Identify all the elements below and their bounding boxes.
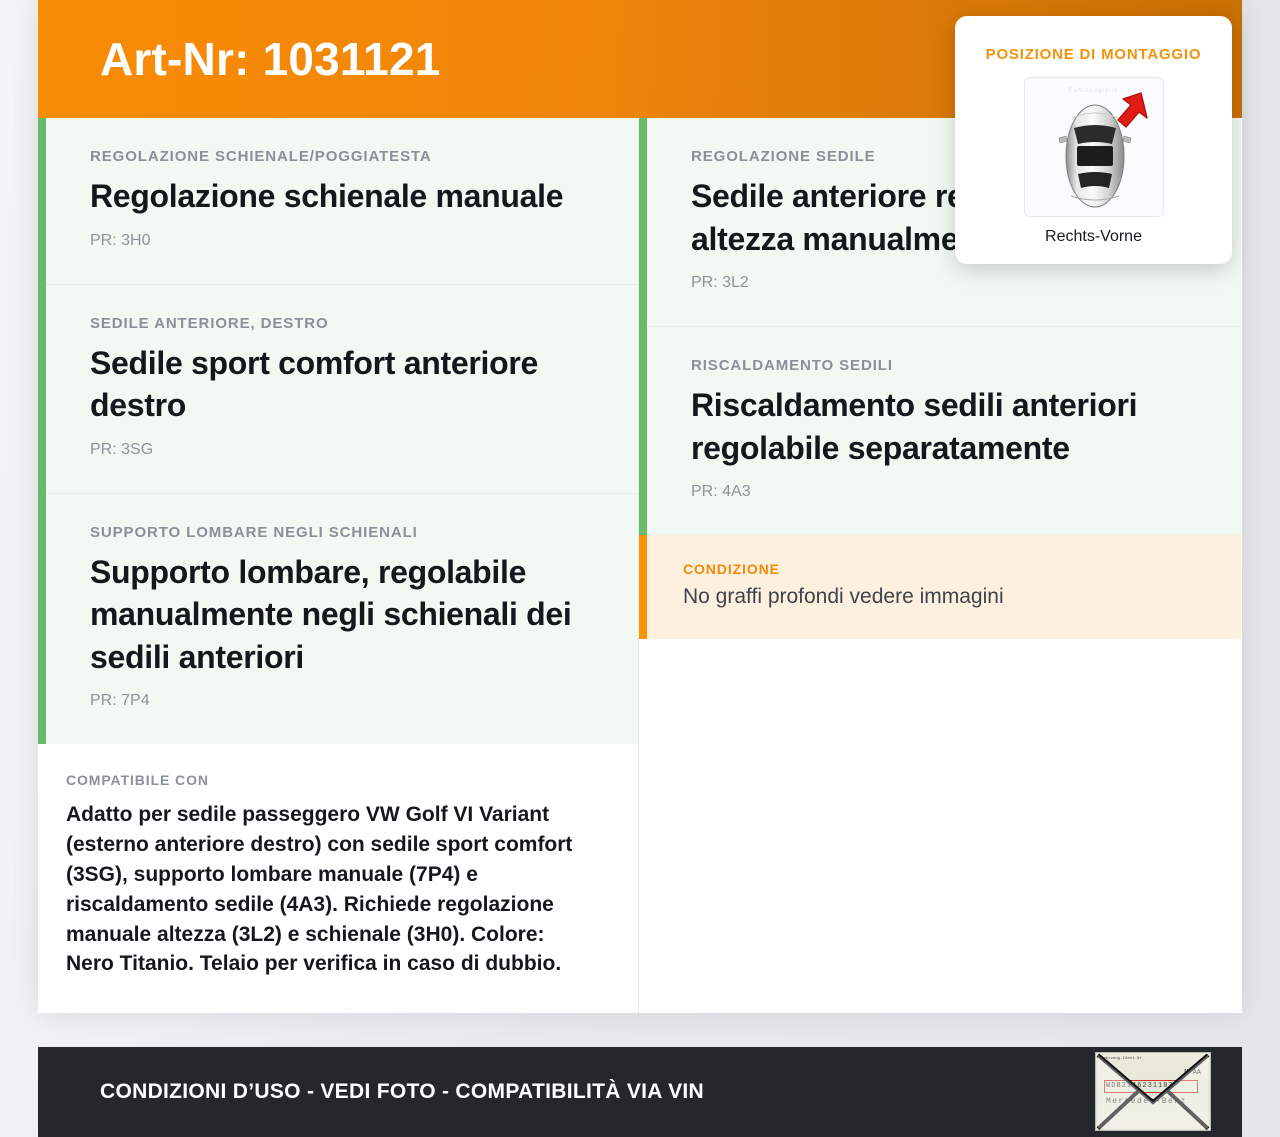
condition-label: CONDIZIONE [683, 561, 1197, 577]
spec-pr-code: PR: 3SG [90, 441, 594, 459]
spec-pr-code: PR: 7P4 [90, 692, 594, 710]
compatibility-text: Adatto per sedile passeggero VW Golf VI … [66, 800, 594, 979]
spec-label: RISCALDAMENTO SEDILI [691, 357, 1197, 374]
vin-document-stamp: Fahrzeug-Ident-Nr. M AA WDB2146231183 Me… [1095, 1052, 1211, 1131]
spec-label: SEDILE ANTERIORE, DESTRO [90, 315, 594, 332]
spec-pr-code: PR: 3H0 [90, 232, 594, 250]
condition-text: No graffi profondi vedere immagini [683, 585, 1197, 609]
car-top-view-icon [1025, 78, 1165, 218]
spec-value: Supporto lombare, regolabile manualmente… [90, 551, 594, 679]
mounting-position-title: POSIZIONE DI MONTAGGIO [955, 46, 1232, 63]
left-spec-stack: REGOLAZIONE SCHIENALE/POGGIATESTA Regola… [38, 118, 638, 744]
spec-card-backrest-adjustment: REGOLAZIONE SCHIENALE/POGGIATESTA Regola… [46, 118, 638, 285]
page-footer: CONDIZIONI D’USO - VEDI FOTO - COMPATIBI… [38, 1047, 1242, 1137]
spec-value: Sedile sport comfort anteriore destro [90, 342, 594, 427]
compatibility-label: COMPATIBILE CON [66, 772, 594, 788]
spec-card-front-right-seat: SEDILE ANTERIORE, DESTRO Sedile sport co… [46, 285, 638, 494]
spec-value: Riscaldamento sedili anteriori regolabil… [691, 384, 1197, 469]
mounting-position-overlay: POSIZIONE DI MONTAGGIO Fahrzeugteile [955, 16, 1232, 264]
footer-text: CONDIZIONI D’USO - VEDI FOTO - COMPATIBI… [100, 1080, 704, 1104]
left-column: REGOLAZIONE SCHIENALE/POGGIATESTA Regola… [38, 118, 639, 1013]
compatibility-section: COMPATIBILE CON Adatto per sedile passeg… [38, 744, 638, 1013]
spec-value: Regolazione schienale manuale [90, 175, 594, 218]
mounting-position-thumbnail[interactable]: Fahrzeugteile [1024, 77, 1164, 217]
spec-pr-code: PR: 4A3 [691, 483, 1197, 501]
mounting-position-caption: Rechts-Vorne [955, 228, 1232, 246]
position-arrow-icon [1118, 93, 1147, 127]
spec-label: SUPPORTO LOMBARE NEGLI SCHIENALI [90, 524, 594, 541]
page-title: Art-Nr: 1031121 [100, 36, 441, 82]
spec-card-seat-heating: RISCALDAMENTO SEDILI Riscaldamento sedil… [647, 327, 1241, 535]
product-detail-page: Art-Nr: 1031121 REGOLAZIONE SCHIENALE/PO… [0, 0, 1280, 1137]
condition-section: CONDIZIONE No graffi profondi vedere imm… [639, 535, 1241, 639]
spec-card-lumbar-support: SUPPORTO LOMBARE NEGLI SCHIENALI Support… [46, 494, 638, 745]
spec-pr-code: PR: 3L2 [691, 274, 1197, 292]
spec-label: REGOLAZIONE SCHIENALE/POGGIATESTA [90, 148, 594, 165]
envelope-icon [1096, 1053, 1210, 1131]
thumbnail-watermark: Fahrzeugteile [1025, 88, 1163, 94]
